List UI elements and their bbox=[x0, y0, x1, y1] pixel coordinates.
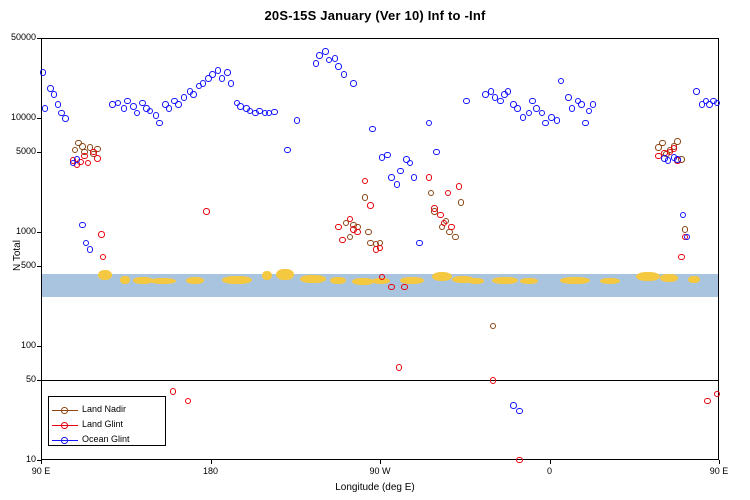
data-point bbox=[693, 88, 700, 95]
data-point bbox=[433, 149, 440, 156]
data-point bbox=[497, 98, 504, 105]
data-point bbox=[445, 190, 452, 197]
x-tick-label: 0 bbox=[525, 466, 575, 476]
legend-marker-0 bbox=[61, 407, 68, 414]
data-point bbox=[362, 194, 369, 201]
coverage-gap-marker bbox=[432, 272, 452, 281]
coverage-gap-marker bbox=[400, 277, 424, 284]
data-point bbox=[431, 205, 438, 212]
data-point bbox=[294, 117, 301, 124]
data-point bbox=[153, 112, 160, 119]
chart-root: 20S-15S January (Ver 10) Inf to -Inf N T… bbox=[0, 0, 750, 500]
coverage-gap-marker bbox=[330, 277, 346, 284]
data-point bbox=[516, 408, 523, 415]
data-point bbox=[674, 156, 681, 163]
data-point bbox=[704, 398, 711, 405]
data-point bbox=[332, 55, 339, 62]
data-point bbox=[394, 181, 401, 188]
data-point bbox=[426, 174, 433, 181]
coverage-gap-marker bbox=[600, 278, 620, 284]
y-tick-label: 100 bbox=[1, 340, 36, 350]
coverage-gap-marker bbox=[492, 277, 518, 284]
data-point bbox=[215, 67, 222, 74]
data-point bbox=[529, 98, 536, 105]
data-point bbox=[401, 284, 408, 291]
coverage-gap-marker bbox=[468, 278, 484, 284]
coverage-gap-marker bbox=[222, 276, 252, 284]
data-point bbox=[714, 100, 721, 107]
data-point bbox=[578, 101, 585, 108]
data-point bbox=[339, 237, 346, 244]
data-point bbox=[682, 226, 689, 233]
data-point bbox=[335, 63, 342, 70]
data-point bbox=[51, 91, 58, 98]
coverage-gap-marker bbox=[660, 274, 678, 282]
data-point bbox=[416, 240, 423, 247]
data-point bbox=[452, 234, 459, 241]
data-point bbox=[79, 222, 86, 229]
data-point bbox=[659, 140, 666, 147]
coverage-gap-marker bbox=[150, 278, 176, 284]
data-point bbox=[87, 246, 94, 253]
data-point bbox=[335, 224, 342, 231]
y-tick bbox=[37, 380, 41, 381]
data-point bbox=[448, 224, 455, 231]
data-point bbox=[388, 174, 395, 181]
data-point bbox=[170, 388, 177, 395]
data-point bbox=[55, 101, 62, 108]
coverage-gap-marker bbox=[276, 269, 294, 280]
coverage-gap-marker bbox=[352, 278, 374, 285]
coverage-gap-marker bbox=[520, 278, 538, 284]
x-axis-title: Longitude (deg E) bbox=[0, 482, 750, 493]
data-point bbox=[428, 190, 435, 197]
data-point bbox=[671, 145, 678, 152]
y-tick-label: 5000 bbox=[1, 146, 36, 156]
data-point bbox=[156, 120, 163, 127]
data-point bbox=[130, 103, 137, 110]
data-point bbox=[341, 71, 348, 78]
data-point bbox=[81, 153, 88, 160]
data-point bbox=[582, 120, 589, 127]
data-point bbox=[456, 183, 463, 190]
data-point bbox=[313, 60, 320, 67]
y-tick-label: 1000 bbox=[1, 226, 36, 236]
data-point bbox=[224, 69, 231, 76]
data-point bbox=[350, 80, 357, 87]
coverage-gap-marker bbox=[560, 277, 590, 284]
data-point bbox=[347, 216, 354, 223]
legend-label-2: Ocean Glint bbox=[82, 434, 130, 444]
data-point bbox=[437, 212, 444, 219]
x-tick-label: 180 bbox=[186, 466, 236, 476]
data-point bbox=[228, 80, 235, 87]
coverage-gap-marker bbox=[98, 270, 112, 280]
data-point bbox=[190, 91, 197, 98]
y-tick bbox=[37, 232, 41, 233]
coverage-gap-marker bbox=[688, 276, 700, 283]
data-point bbox=[590, 101, 597, 108]
data-point bbox=[271, 109, 278, 116]
data-point bbox=[74, 156, 81, 163]
x-tick-label: 90 E bbox=[694, 466, 744, 476]
data-point bbox=[463, 98, 470, 105]
x-tick bbox=[719, 460, 720, 464]
data-point bbox=[565, 94, 572, 101]
data-point bbox=[219, 75, 226, 82]
y-tick-label: 50000 bbox=[1, 32, 36, 42]
coverage-gap-marker bbox=[262, 271, 272, 280]
data-point bbox=[175, 101, 182, 108]
data-point bbox=[714, 391, 721, 398]
x-tick-label: 90 W bbox=[355, 466, 405, 476]
data-point bbox=[367, 202, 374, 209]
data-point bbox=[98, 231, 105, 238]
y-tick-label: 10 bbox=[1, 454, 36, 464]
y-tick-label: 50 bbox=[1, 374, 36, 384]
data-point bbox=[678, 254, 685, 261]
data-point bbox=[411, 174, 418, 181]
x-tick-label: 90 E bbox=[16, 466, 66, 476]
y-tick bbox=[37, 152, 41, 153]
y-tick-label: 500 bbox=[1, 260, 36, 270]
data-point bbox=[490, 377, 497, 384]
y-tick bbox=[37, 118, 41, 119]
data-point bbox=[369, 126, 376, 133]
legend-marker-1 bbox=[61, 422, 68, 429]
data-point bbox=[396, 364, 403, 371]
data-point bbox=[365, 229, 372, 236]
data-point bbox=[354, 229, 361, 236]
chart-title: 20S-15S January (Ver 10) Inf to -Inf bbox=[0, 8, 750, 23]
data-point bbox=[554, 117, 561, 124]
data-point bbox=[516, 457, 523, 464]
y-tick bbox=[37, 346, 41, 347]
legend-label-0: Land Nadir bbox=[82, 404, 126, 414]
y-tick bbox=[37, 38, 41, 39]
x-tick bbox=[41, 460, 42, 464]
coverage-gap-marker bbox=[120, 276, 130, 284]
coverage-gap-marker bbox=[186, 277, 204, 284]
data-point bbox=[458, 199, 465, 206]
data-point bbox=[94, 155, 101, 162]
data-point bbox=[514, 105, 521, 112]
y-tick bbox=[37, 266, 41, 267]
data-point bbox=[674, 138, 681, 145]
data-point bbox=[203, 208, 210, 215]
reference-line bbox=[42, 380, 718, 381]
x-tick bbox=[550, 460, 551, 464]
data-point bbox=[388, 284, 395, 291]
data-point bbox=[42, 105, 49, 112]
y-tick-label: 10000 bbox=[1, 112, 36, 122]
legend-label-1: Land Glint bbox=[82, 419, 123, 429]
data-point bbox=[322, 48, 329, 55]
coverage-gap-marker bbox=[300, 275, 326, 283]
legend-marker-2 bbox=[61, 437, 68, 444]
coverage-gap-marker bbox=[636, 272, 660, 281]
data-point bbox=[542, 120, 549, 127]
data-point bbox=[121, 105, 128, 112]
data-point bbox=[40, 69, 47, 76]
x-tick bbox=[211, 460, 212, 464]
data-point bbox=[62, 115, 69, 122]
data-point bbox=[505, 88, 512, 95]
x-tick bbox=[380, 460, 381, 464]
